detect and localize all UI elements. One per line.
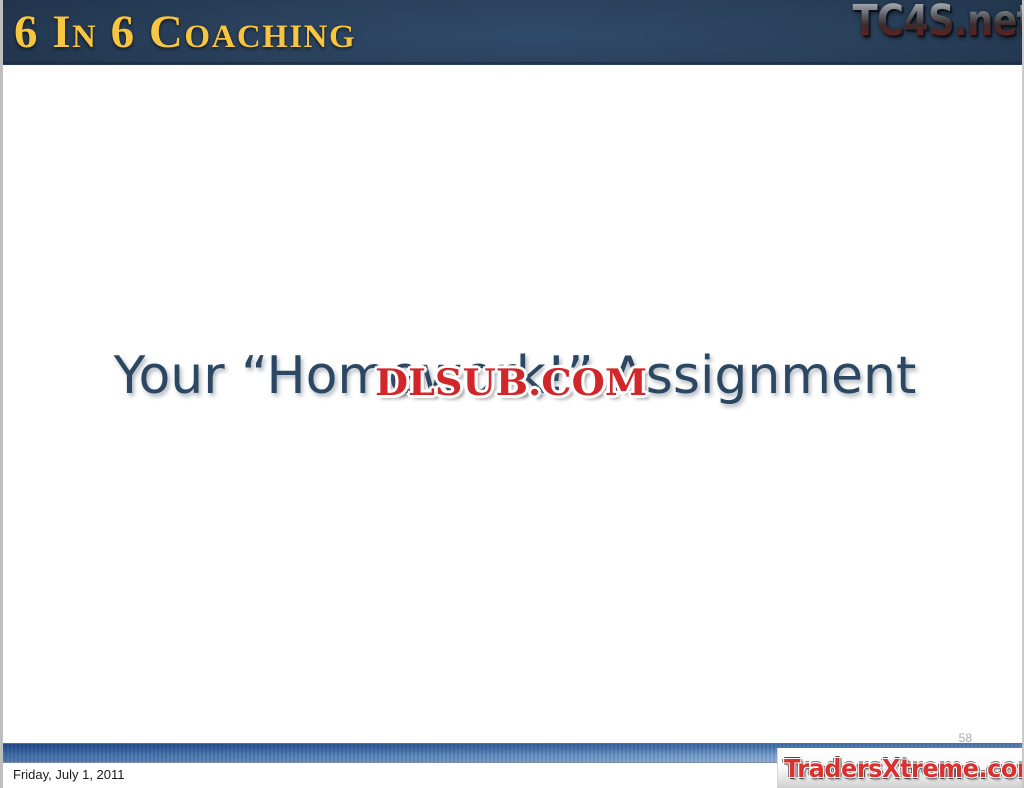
slide-body: Your “Homework!” Assignment <box>3 68 1024 740</box>
tradersxtreme-logo: TradersXtreme.com <box>784 754 1022 784</box>
dlsub-watermark: DLSUB.COM <box>375 363 647 403</box>
slide-header-banner: 6 In 6 Coaching TC4S.net <box>3 0 1024 65</box>
course-title: 6 In 6 Coaching <box>14 3 356 61</box>
tradersxtreme-logo-panel: TradersXtreme.com <box>777 748 1022 788</box>
tc4s-brand-logo: TC4S.net <box>852 0 1024 46</box>
presentation-slide: 6 In 6 Coaching TC4S.net Your “Homework!… <box>0 0 1024 788</box>
footer-date: Friday, July 1, 2011 <box>13 767 125 783</box>
